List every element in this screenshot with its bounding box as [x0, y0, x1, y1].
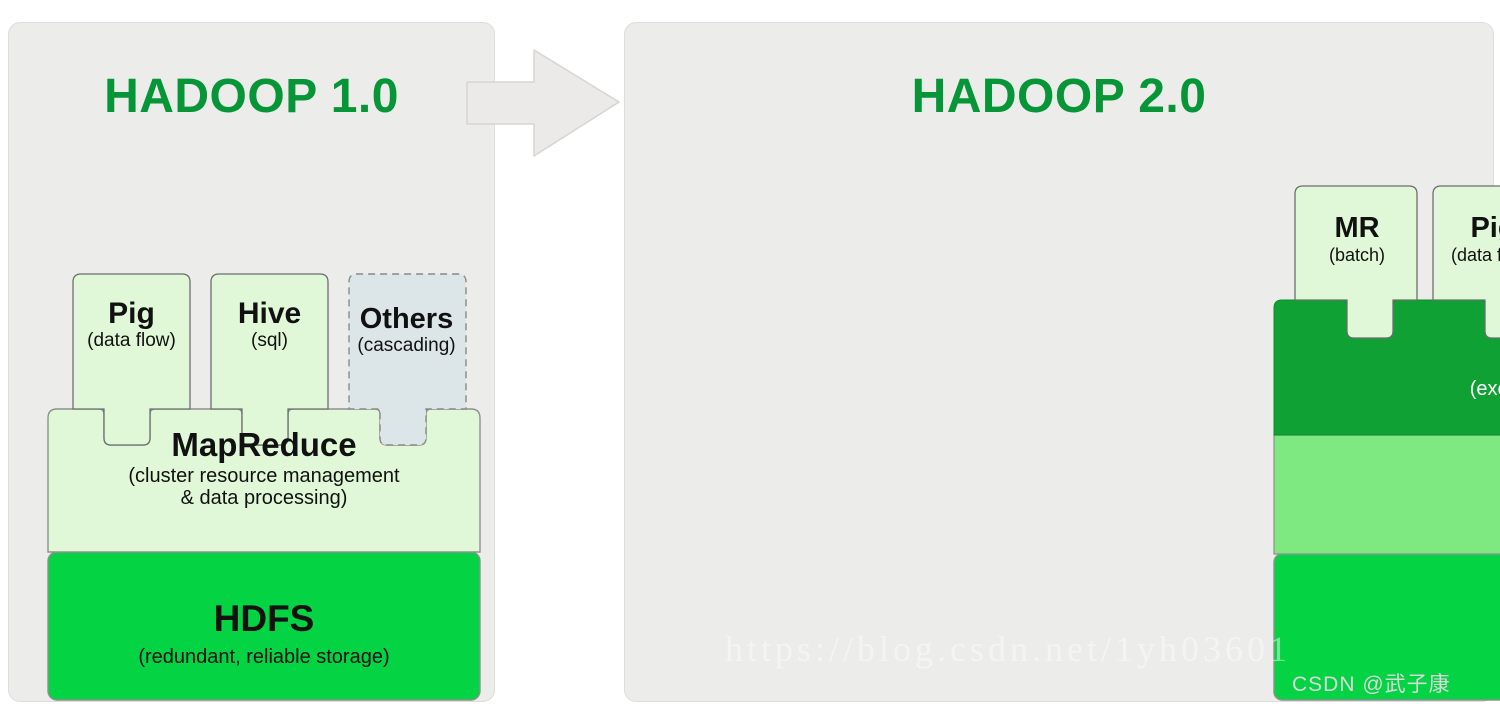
yarn-layer-shape	[1274, 435, 1500, 554]
hadoop-1-title: HADOOP 1.0	[9, 69, 494, 124]
hadoop-1-panel: HADOOP 1.0 Pig (data flow) Hive (sql) Ot…	[8, 22, 495, 702]
hdfs-layer-shape	[48, 552, 480, 700]
hadoop-2-title: HADOOP 2.0	[625, 69, 1493, 124]
hdfs2-layer-shape	[1274, 554, 1500, 700]
hadoop-2-panel: HADOOP 2.0 MR (batch)	[624, 22, 1494, 702]
transition-arrow-icon	[462, 38, 624, 168]
hadoop-2-stack	[1273, 185, 1500, 701]
hadoop-1-stack	[47, 273, 481, 701]
diagram-canvas: HADOOP 1.0 Pig (data flow) Hive (sql) Ot…	[0, 0, 1500, 712]
